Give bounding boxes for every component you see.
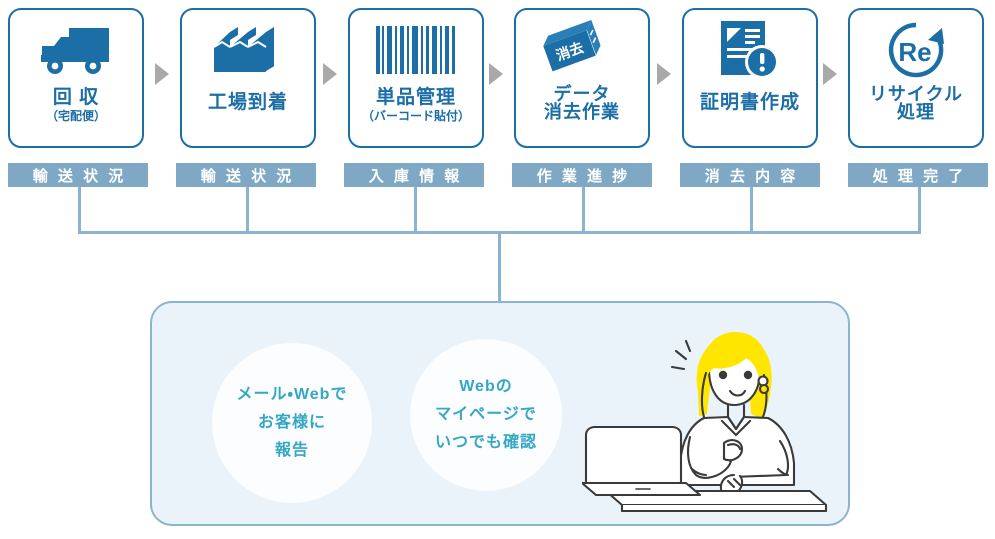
step-title-line1: データ (554, 84, 611, 104)
barcode-icon (350, 14, 482, 86)
connector-drop-2 (246, 187, 249, 233)
eraser-icon: 消去 (516, 14, 648, 86)
flow-diagram: 回 収 （宅配便） 工場到着 (0, 0, 995, 539)
connector-drop-6 (918, 187, 921, 233)
bubble2-line2: マイページで (435, 401, 537, 429)
tag-transport-status-1[interactable]: 輸 送 状 況 (8, 163, 148, 187)
bubble1-line2: お客様に (237, 409, 348, 437)
bubble-mail-web-report[interactable]: メール・Webで お客様に 報告 (212, 343, 372, 503)
step-title-line2: 消去作業 (544, 102, 620, 122)
step-title-line2: 処理 (897, 102, 935, 122)
truck-icon (10, 14, 142, 86)
step-box-item-management[interactable]: 単品管理 （バーコード貼付） (348, 8, 484, 148)
connector-drop-5 (750, 187, 753, 233)
bubble-web-mypage-check[interactable]: Webの マイページで いつでも確認 (410, 339, 562, 491)
step-title: 単品管理 (376, 87, 456, 108)
tag-erasure-content[interactable]: 消 去 内 容 (680, 163, 820, 187)
triangle-right-icon (823, 63, 837, 85)
connector-to-panel (498, 231, 501, 303)
bubble1-line1: メール・Webで (237, 381, 348, 409)
step-title-line1: リサイクル (869, 84, 963, 104)
connector-drop-4 (582, 187, 585, 233)
tag-work-progress[interactable]: 作 業 進 捗 (512, 163, 652, 187)
step-title: 回 収 (53, 87, 99, 108)
tag-processing-complete[interactable]: 処 理 完 了 (848, 163, 988, 187)
bubble2-line1: Webの (435, 373, 537, 401)
step-box-recycle[interactable]: Re リサイクル 処理 (848, 8, 984, 148)
step-box-collection[interactable]: 回 収 （宅配便） (8, 8, 144, 148)
triangle-right-icon (323, 63, 337, 85)
step-subtitle: （宅配便） (46, 109, 106, 124)
tag-transport-status-2[interactable]: 輸 送 状 況 (176, 163, 316, 187)
connector-drop-3 (414, 187, 417, 233)
customer-reporting-panel: メール・Webで お客様に 報告 Webの マイページで いつでも確認 (150, 301, 850, 526)
step-box-data-erasure[interactable]: 消去 データ 消去作業 (514, 8, 650, 148)
step-box-certificate[interactable]: 証明書作成 (682, 8, 818, 148)
tag-warehouse-info[interactable]: 入 庫 情 報 (344, 163, 484, 187)
step-title: 証明書作成 (700, 92, 800, 113)
triangle-right-icon (155, 63, 169, 85)
triangle-right-icon (489, 63, 503, 85)
connector-drop-1 (78, 187, 81, 233)
bubble2-line3: いつでも確認 (435, 429, 537, 457)
step-title: 工場到着 (208, 92, 288, 113)
recycle-icon-label: Re (898, 37, 931, 67)
step-subtitle: （バーコード貼付） (362, 109, 470, 124)
triangle-right-icon (657, 63, 671, 85)
factory-icon (182, 14, 314, 86)
step-box-factory-arrival[interactable]: 工場到着 (180, 8, 316, 148)
certificate-icon (684, 14, 816, 86)
woman-at-laptop-illustration (582, 317, 837, 512)
recycle-re-icon: Re (850, 14, 982, 86)
bubble1-line3: 報告 (237, 437, 348, 465)
